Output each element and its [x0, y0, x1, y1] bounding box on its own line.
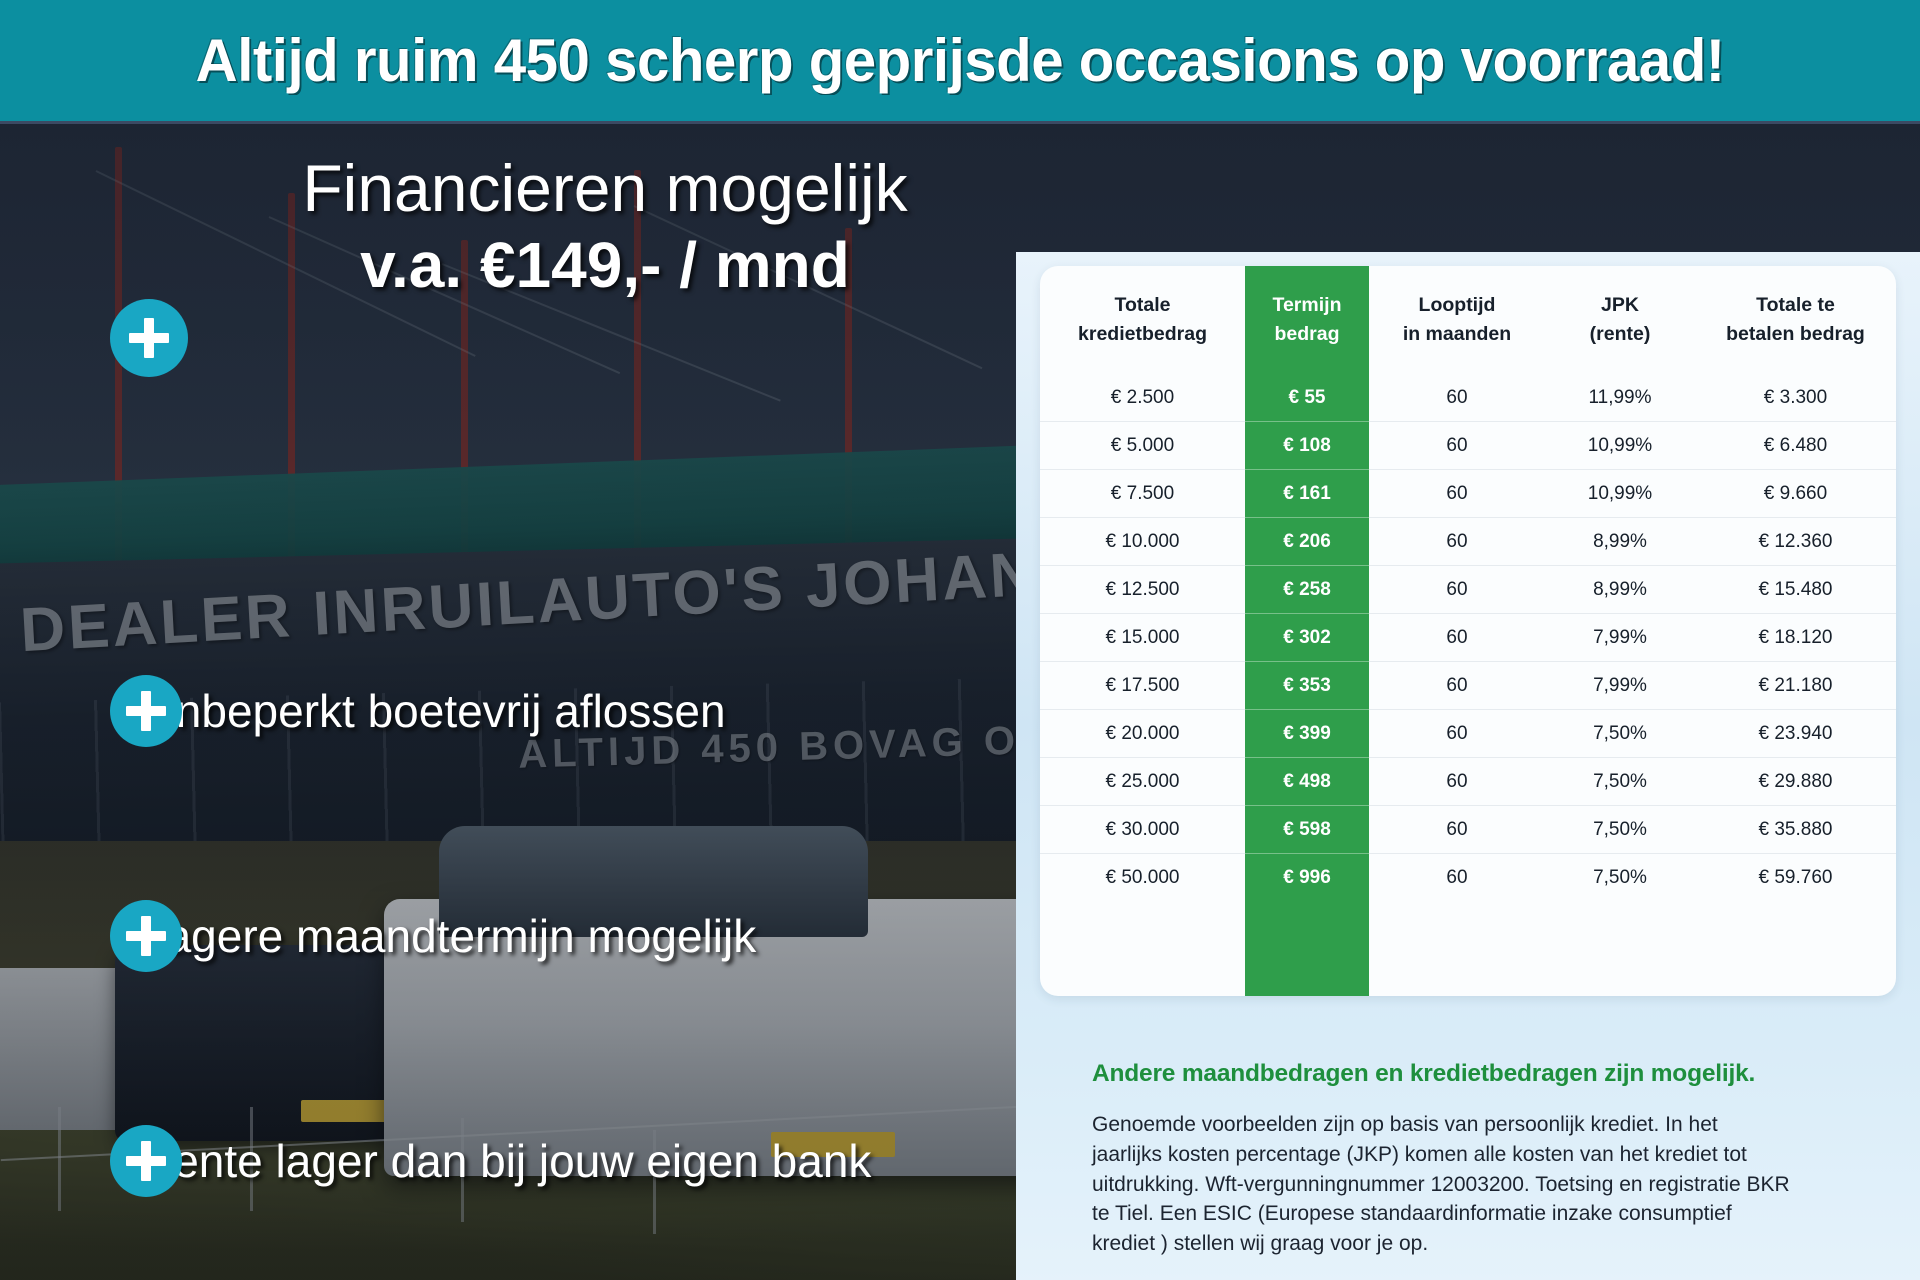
table-cell: 7,50%: [1545, 758, 1695, 806]
header-line: betalen bedrag: [1695, 320, 1896, 349]
table-row: € 5.000€ 1086010,99%€ 6.480: [1040, 422, 1896, 470]
table-cell: 7,99%: [1545, 614, 1695, 662]
table-cell: 8,99%: [1545, 518, 1695, 566]
benefit-item-1: Onbeperkt boetevrij aflossen: [110, 684, 726, 738]
top-banner: Altijd ruim 450 scherp geprijsde occasio…: [0, 0, 1920, 124]
header-line: Totale: [1040, 291, 1245, 320]
table-cell: € 258: [1245, 566, 1369, 614]
header-line: (rente): [1545, 320, 1695, 349]
table-row: € 10.000€ 206608,99%€ 12.360: [1040, 518, 1896, 566]
table-cell: € 15.000: [1040, 614, 1245, 662]
table-header-row: Totale kredietbedrag Termijn bedrag Loop…: [1040, 266, 1896, 374]
table-cell: 60: [1369, 806, 1545, 854]
table-cell: € 30.000: [1040, 806, 1245, 854]
table-cell: 60: [1369, 854, 1545, 902]
table-cell: € 15.480: [1695, 566, 1896, 614]
table-cell: 60: [1369, 518, 1545, 566]
plus-icon: [110, 299, 188, 377]
table-cell: € 55: [1245, 374, 1369, 422]
table-cell: € 18.120: [1695, 614, 1896, 662]
header-line: Termijn: [1245, 291, 1369, 320]
benefit-label: Lagere maandtermijn mogelijk: [140, 909, 756, 963]
banner-headline: Altijd ruim 450 scherp geprijsde occasio…: [195, 26, 1724, 95]
disclaimer-block: Andere maandbedragen en kredietbedragen …: [1092, 1060, 1792, 1259]
table-cell: 7,50%: [1545, 806, 1695, 854]
column-header-totale-kredietbedrag: Totale kredietbedrag: [1040, 266, 1245, 374]
table-cell: € 12.500: [1040, 566, 1245, 614]
table-row: € 20.000€ 399607,50%€ 23.940: [1040, 710, 1896, 758]
table-cell: € 25.000: [1040, 758, 1245, 806]
table-cell: € 206: [1245, 518, 1369, 566]
table-cell: 60: [1369, 422, 1545, 470]
header-line: in maanden: [1369, 320, 1545, 349]
table-row: € 12.500€ 258608,99%€ 15.480: [1040, 566, 1896, 614]
table-cell: € 996: [1245, 854, 1369, 902]
column-header-looptijd: Looptijd in maanden: [1369, 266, 1545, 374]
header-line: Looptijd: [1369, 291, 1545, 320]
table-cell: € 29.880: [1695, 758, 1896, 806]
table-cell: € 3.300: [1695, 374, 1896, 422]
table-cell: € 21.180: [1695, 662, 1896, 710]
table-cell: € 20.000: [1040, 710, 1245, 758]
main-headline: Financieren mogelijk v.a. €149,- / mnd: [205, 154, 1005, 302]
table-cell: € 10.000: [1040, 518, 1245, 566]
table-cell: € 302: [1245, 614, 1369, 662]
table-cell: € 108: [1245, 422, 1369, 470]
left-content-column: Financieren mogelijk v.a. €149,- / mnd O…: [0, 124, 1030, 1280]
table-cell: € 7.500: [1040, 470, 1245, 518]
column-header-termijn-bedrag: Termijn bedrag: [1245, 266, 1369, 374]
benefit-item-2: Lagere maandtermijn mogelijk: [110, 909, 756, 963]
plus-icon: [110, 675, 182, 747]
financing-info-panel: Totale kredietbedrag Termijn bedrag Loop…: [1016, 252, 1920, 1280]
disclaimer-body: Genoemde voorbeelden zijn op basis van p…: [1092, 1110, 1792, 1259]
table-cell: 7,50%: [1545, 854, 1695, 902]
table-cell: € 9.660: [1695, 470, 1896, 518]
table-cell: 60: [1369, 614, 1545, 662]
table-cell: € 399: [1245, 710, 1369, 758]
table-cell: 60: [1369, 758, 1545, 806]
benefit-label: Rente lager dan bij jouw eigen bank: [140, 1134, 871, 1188]
table-cell: 60: [1369, 374, 1545, 422]
table-cell: € 353: [1245, 662, 1369, 710]
table-row: € 15.000€ 302607,99%€ 18.120: [1040, 614, 1896, 662]
financing-table-card: Totale kredietbedrag Termijn bedrag Loop…: [1040, 266, 1896, 996]
table-cell: € 17.500: [1040, 662, 1245, 710]
table-header: Totale kredietbedrag Termijn bedrag Loop…: [1040, 266, 1896, 374]
table-row: € 30.000€ 598607,50%€ 35.880: [1040, 806, 1896, 854]
financing-table: Totale kredietbedrag Termijn bedrag Loop…: [1040, 266, 1896, 901]
table-cell: € 2.500: [1040, 374, 1245, 422]
table-row: € 50.000€ 996607,50%€ 59.760: [1040, 854, 1896, 902]
header-line: kredietbedrag: [1040, 320, 1245, 349]
table-cell: 7,99%: [1545, 662, 1695, 710]
headline-line-2: v.a. €149,- / mnd: [205, 230, 1005, 302]
table-cell: 60: [1369, 566, 1545, 614]
advertisement-poster: Altijd ruim 450 scherp geprijsde occasio…: [0, 0, 1920, 1280]
benefit-label: Onbeperkt boetevrij aflossen: [140, 684, 726, 738]
table-cell: 10,99%: [1545, 422, 1695, 470]
table-cell: € 23.940: [1695, 710, 1896, 758]
table-cell: 11,99%: [1545, 374, 1695, 422]
table-row: € 25.000€ 498607,50%€ 29.880: [1040, 758, 1896, 806]
table-cell: € 498: [1245, 758, 1369, 806]
disclaimer-title: Andere maandbedragen en kredietbedragen …: [1092, 1060, 1792, 1088]
table-cell: € 5.000: [1040, 422, 1245, 470]
table-cell: € 598: [1245, 806, 1369, 854]
table-cell: 60: [1369, 710, 1545, 758]
plus-icon: [110, 1125, 182, 1197]
table-row: € 2.500€ 556011,99%€ 3.300: [1040, 374, 1896, 422]
header-line: JPK: [1545, 291, 1695, 320]
column-header-jpk-rente: JPK (rente): [1545, 266, 1695, 374]
table-cell: 8,99%: [1545, 566, 1695, 614]
header-line: bedrag: [1245, 320, 1369, 349]
table-cell: 60: [1369, 470, 1545, 518]
photo-stage: DEALER INRUILAUTO'S JOHAN MEURE ALTIJD 4…: [0, 124, 1920, 1280]
table-row: € 7.500€ 1616010,99%€ 9.660: [1040, 470, 1896, 518]
column-header-totale-te-betalen: Totale te betalen bedrag: [1695, 266, 1896, 374]
table-body: € 2.500€ 556011,99%€ 3.300€ 5.000€ 10860…: [1040, 374, 1896, 901]
table-cell: € 59.760: [1695, 854, 1896, 902]
table-cell: € 35.880: [1695, 806, 1896, 854]
headline-line-1: Financieren mogelijk: [205, 154, 1005, 224]
table-cell: 10,99%: [1545, 470, 1695, 518]
table-cell: € 6.480: [1695, 422, 1896, 470]
table-cell: 7,50%: [1545, 710, 1695, 758]
table-row: € 17.500€ 353607,99%€ 21.180: [1040, 662, 1896, 710]
table-cell: € 12.360: [1695, 518, 1896, 566]
table-cell: € 161: [1245, 470, 1369, 518]
table-cell: € 50.000: [1040, 854, 1245, 902]
table-cell: 60: [1369, 662, 1545, 710]
plus-icon: [110, 900, 182, 972]
benefit-item-3: Rente lager dan bij jouw eigen bank: [110, 1134, 871, 1188]
header-line: Totale te: [1695, 291, 1896, 320]
